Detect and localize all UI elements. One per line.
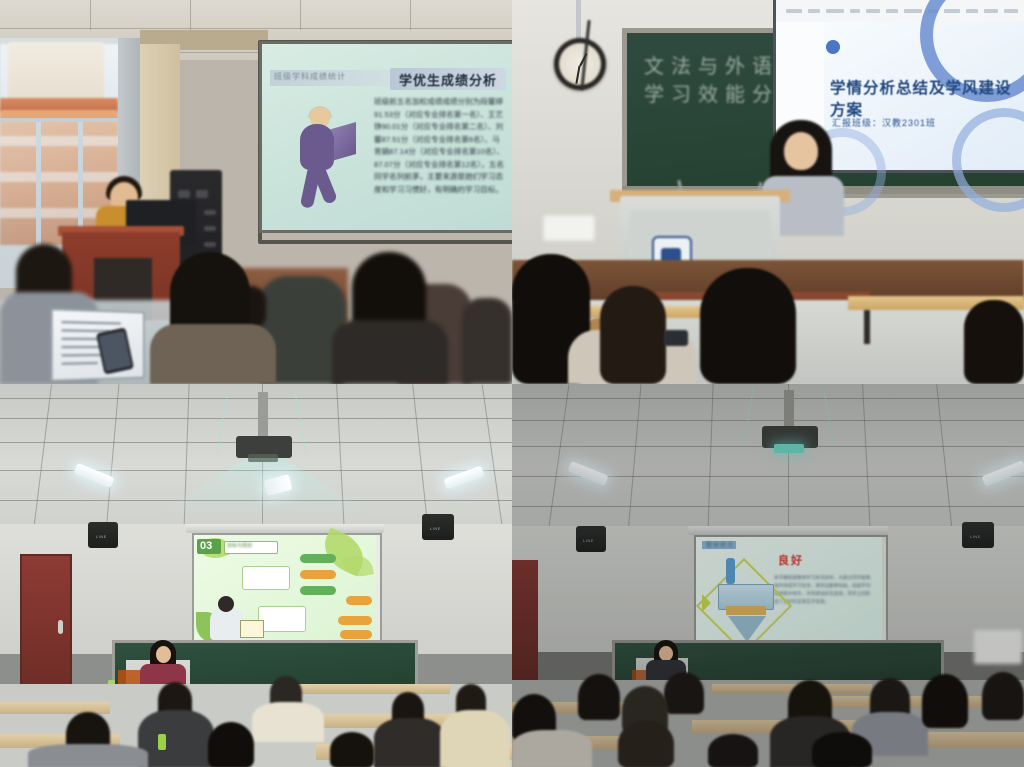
projector-mount [784, 390, 794, 430]
student-body [138, 710, 214, 767]
student-head [708, 734, 758, 767]
chair [462, 298, 512, 384]
ceiling [512, 384, 1024, 534]
door-handle-icon[interactable] [58, 620, 63, 634]
student-hair [600, 286, 666, 384]
student-head [208, 722, 254, 767]
slide-title: 良好 [756, 552, 826, 568]
student-body [374, 718, 446, 767]
photo-collage: 班级学科成绩统计 学优生成绩分析 班级前五名加权成绩成绩分别为段馨婷91.53分… [0, 0, 1024, 767]
screen-case [688, 526, 888, 535]
student-head [812, 732, 872, 767]
student-hair [700, 268, 796, 384]
screen-case [186, 524, 384, 533]
slide-title: 学情分析总结及学风建设方案 [830, 76, 1024, 120]
attendee-body [150, 324, 276, 384]
slide-subtitle: 汇报班级：汉教2301班 [832, 116, 1002, 129]
projector-mount [258, 392, 268, 440]
student-body [440, 710, 510, 767]
name-plate [542, 214, 596, 242]
attendee-body [332, 320, 448, 384]
presenter-face [156, 646, 171, 663]
student-head [330, 732, 374, 767]
slide-header-label: 目标与规划 [227, 542, 273, 549]
building-far [8, 42, 104, 102]
slide-person-body [210, 608, 244, 640]
panel-top-right: 文法与外语学院 学习效能分析会 汉教2301班 01 [512, 0, 1024, 384]
slide-stack-graphic [726, 606, 766, 615]
student-body [512, 730, 592, 767]
projector-lens [774, 444, 804, 453]
slide-title: 学优生成绩分析 [392, 70, 504, 89]
panel-bottom-right: LINE LINE 整体状况 良好 本学期班级整体学习状况良好，大部分同学能够按… [512, 384, 1024, 767]
classroom-door[interactable] [20, 554, 72, 690]
hanging-pole [576, 0, 581, 40]
student-body [252, 702, 324, 742]
slide-body-text: 本学期班级整体学习状况良好，大部分同学能够按时完成学习任务，课堂出勤率较高。班级… [774, 574, 874, 606]
slide-body-text: 班级前五名加权成绩成绩分别为段馨婷91.53分（对应专业排名第一名）、王艺铮90… [374, 96, 506, 196]
slide-figure-graphic [726, 558, 735, 584]
student-head [922, 674, 968, 728]
slide-laptop-graphic [240, 620, 264, 638]
student-head [618, 720, 674, 767]
student-head [578, 674, 620, 720]
panel-top-left: 班级学科成绩统计 学优生成绩分析 班级前五名加权成绩成绩分别为段馨婷91.53分… [0, 0, 512, 384]
student-head [982, 672, 1024, 720]
slide-person-head [218, 596, 234, 612]
slide-triangle-graphic [728, 616, 766, 642]
panel-bottom-left: LINE LINE 03 目标与规划 [0, 384, 512, 767]
slide-header-label: 整体状况 [706, 540, 734, 549]
student-hair [964, 300, 1024, 384]
beverage-can [158, 734, 166, 750]
sink-counter [974, 630, 1022, 664]
slide-bullet-badge [826, 40, 840, 54]
presenter-face [659, 646, 673, 661]
smartphone [664, 330, 688, 346]
student-body [28, 744, 148, 767]
slide-illustration [284, 106, 356, 218]
slide-section-number: 03 [200, 540, 218, 552]
desk-leg [864, 310, 870, 344]
projection-screen: 班级学科成绩统计 学优生成绩分析 班级前五名加权成绩成绩分别为段馨婷91.53分… [262, 44, 512, 230]
presenter-face [784, 132, 818, 170]
student-head [664, 672, 704, 714]
classroom-door[interactable] [512, 560, 538, 688]
